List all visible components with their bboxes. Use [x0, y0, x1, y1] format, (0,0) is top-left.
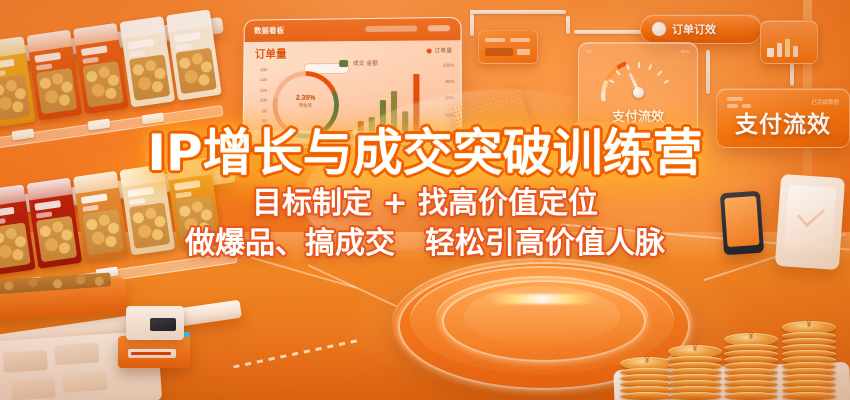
tray-box [11, 377, 56, 400]
coin-stack-icon [668, 347, 722, 400]
window-controls[interactable] [428, 25, 451, 31]
stage-glow-line [442, 280, 646, 362]
connector-wire [470, 10, 566, 14]
legend-label: 成交 金额 [353, 59, 378, 67]
donut-value: 2.35% [273, 95, 339, 102]
pos-indicator [184, 332, 190, 337]
coin-stack-group [620, 300, 850, 400]
connector-wire [574, 30, 644, 34]
axis-tick: 100% [443, 63, 455, 68]
dashboard-titlebar: 数据看板 [245, 18, 461, 42]
subtitle-line-1: 目标制定 + 找高价值定位 [0, 189, 850, 219]
coin-stack-icon [620, 359, 674, 400]
donut-center-label: 2.35% 转化率 [273, 95, 339, 109]
gauge-icon [601, 59, 675, 101]
gauge-corner-label: 0% [586, 49, 593, 54]
chart-node-icon[interactable] [760, 20, 818, 64]
badge-dot-icon [652, 22, 666, 36]
chart-legend: 成交 金额 [339, 59, 378, 67]
dashboard-window-title: 数据看板 [254, 25, 284, 36]
mini-data-card[interactable] [478, 30, 538, 64]
badge-label: 订单订效 [672, 21, 716, 37]
gauge-corner-label: 60% [681, 49, 690, 54]
pos-base [118, 336, 190, 368]
product-package [26, 29, 82, 120]
axis-tick: 160 [260, 67, 267, 72]
gauge-hub [633, 87, 644, 98]
coin-stack-icon [782, 323, 836, 400]
axis-tick: 60 [262, 119, 267, 124]
legend-dot [426, 48, 431, 53]
stage-highlight-strip [488, 294, 596, 304]
donut-sublabel: 转化率 [273, 103, 339, 109]
tray-box [62, 370, 107, 393]
legend-label: 订单量 [434, 46, 452, 54]
connector-wire [706, 50, 710, 94]
subtitle-line-2: 做爆品、搞成交 轻松引高价值人脉 [0, 229, 850, 259]
axis-tick: 80% [445, 79, 454, 84]
legend-swatch [339, 60, 348, 67]
connector-wire [566, 16, 570, 34]
dashboard-panel-title: 订单量 [255, 46, 287, 62]
product-package [73, 23, 129, 114]
page-title: IP增长与成交突破训练营 [0, 128, 850, 178]
axis-tick: 140 [260, 78, 267, 83]
order-efficiency-badge[interactable]: 订单订效 [640, 14, 762, 44]
tray-box [54, 342, 99, 365]
product-package [119, 16, 175, 107]
pos-screen [126, 306, 184, 340]
pos-terminal-icon [118, 306, 190, 368]
axis-tick: 120 [260, 88, 267, 93]
chart-legend-secondary: 订单量 [426, 46, 452, 54]
coin-stack-icon [724, 335, 778, 400]
tray-box [3, 350, 48, 373]
banner-text-block: IP增长与成交突破训练营 目标制定 + 找高价值定位 做爆品、搞成交 轻松引高价… [0, 128, 850, 259]
axis-tick: 80 [262, 108, 267, 113]
axis-tick: 100 [260, 98, 267, 103]
breadcrumb [365, 25, 417, 32]
promo-banner: 数据看板 订单量 成交 金额 订单量 160 140 120 100 80 60 [0, 0, 850, 400]
